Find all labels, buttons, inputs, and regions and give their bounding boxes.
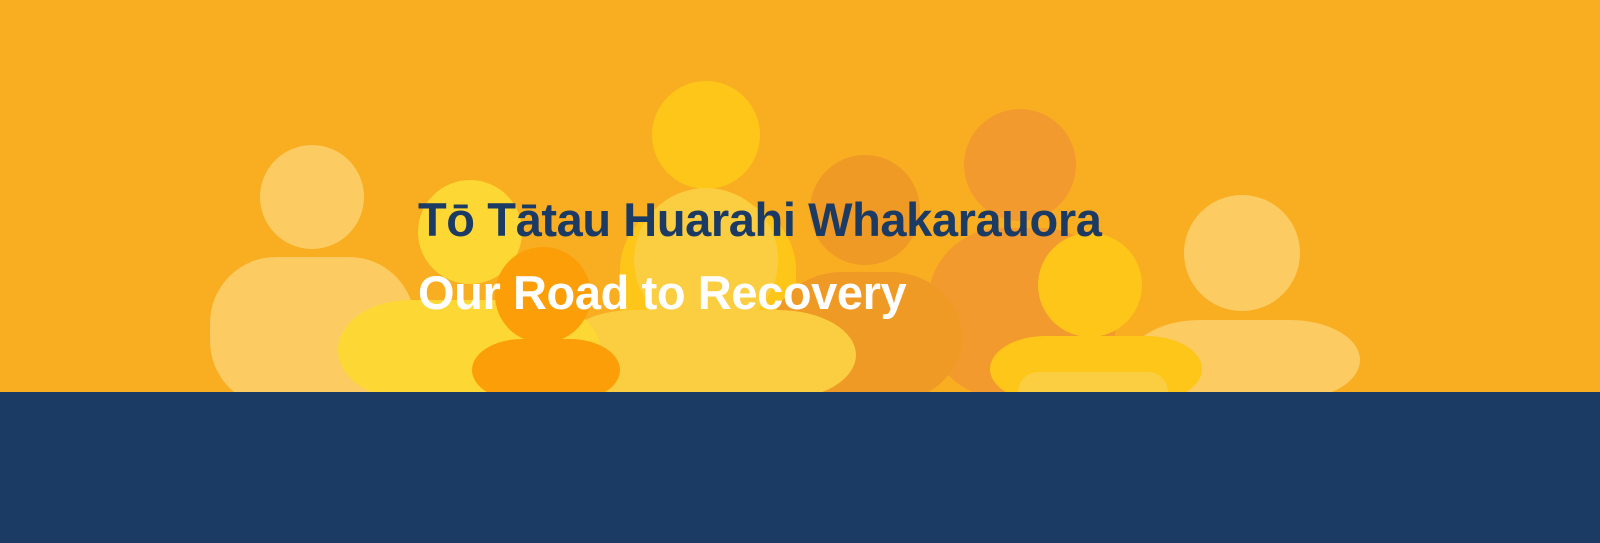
head-shape — [260, 145, 364, 249]
person-silhouette-pale-far-right — [1018, 372, 1168, 392]
hero-orange-region: Tō Tātau Huarahi Whakarauora Our Road to… — [0, 0, 1600, 392]
head-shape — [634, 188, 778, 332]
head-shape — [1038, 233, 1142, 337]
head-shape — [964, 109, 1076, 221]
head-shape — [810, 155, 920, 265]
torso-shape — [1018, 372, 1168, 392]
head-shape — [495, 247, 591, 343]
head-shape — [652, 81, 760, 189]
footer-navy-band — [0, 392, 1600, 543]
crowd-of-people-illustration — [0, 0, 1600, 392]
head-shape — [1184, 195, 1300, 311]
recovery-banner: Tō Tātau Huarahi Whakarauora Our Road to… — [0, 0, 1600, 543]
torso-shape — [472, 339, 620, 392]
